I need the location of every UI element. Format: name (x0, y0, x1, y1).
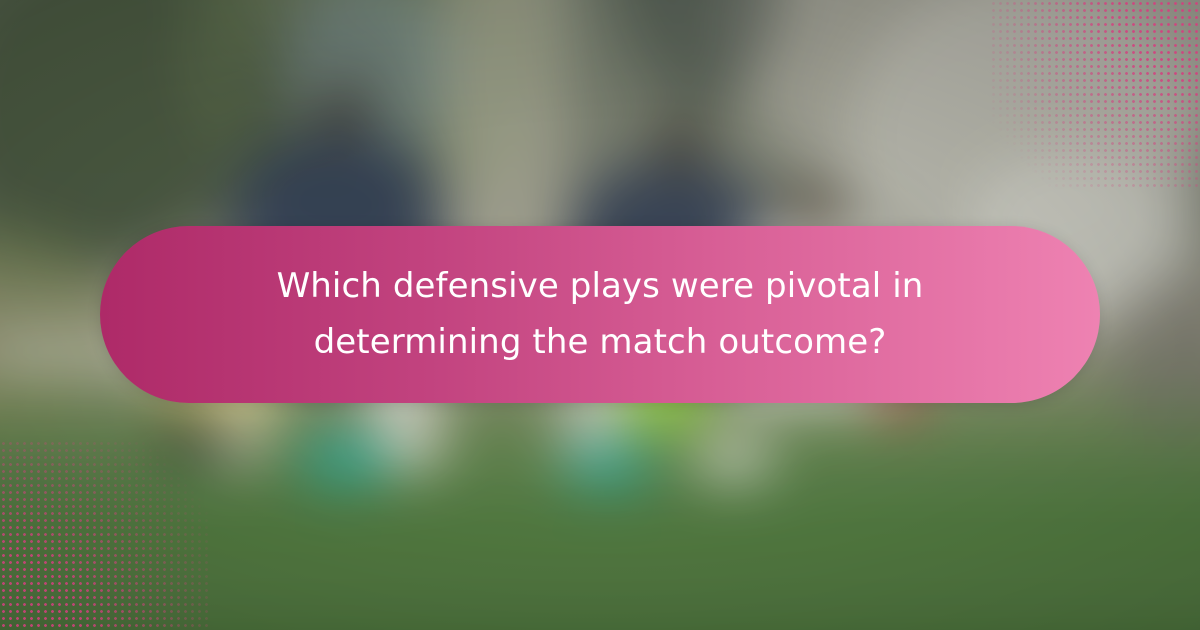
question-text: Which defensive plays were pivotal in de… (220, 259, 980, 369)
question-card: Which defensive plays were pivotal in de… (0, 0, 1200, 630)
question-pill: Which defensive plays were pivotal in de… (100, 226, 1100, 403)
